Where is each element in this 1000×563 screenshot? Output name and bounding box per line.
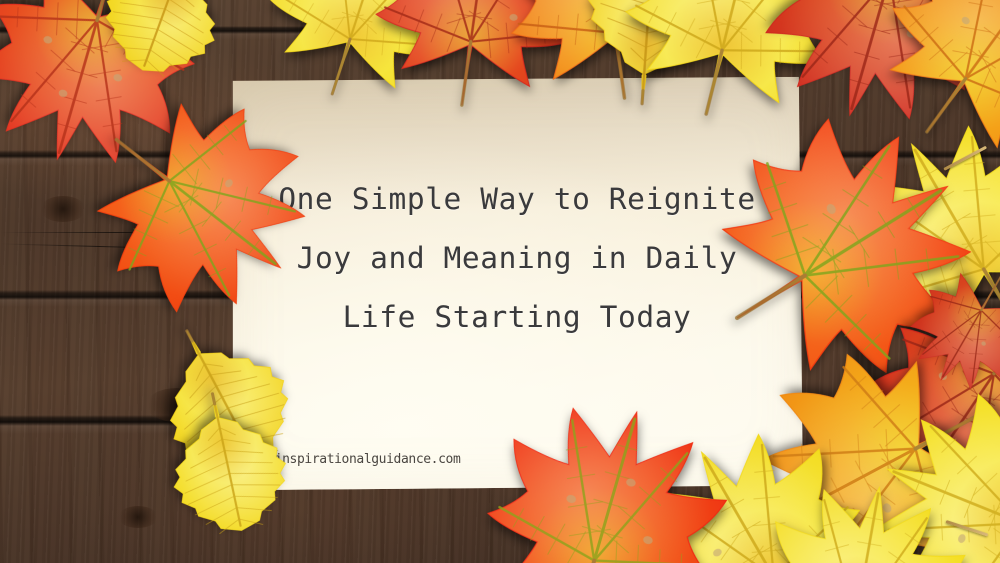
wood-knot-icon: [118, 506, 158, 528]
quote-graphic-canvas: One Simple Way to Reignite Joy and Meani…: [0, 0, 1000, 563]
headline-line-3: Life Starting Today: [232, 288, 802, 347]
